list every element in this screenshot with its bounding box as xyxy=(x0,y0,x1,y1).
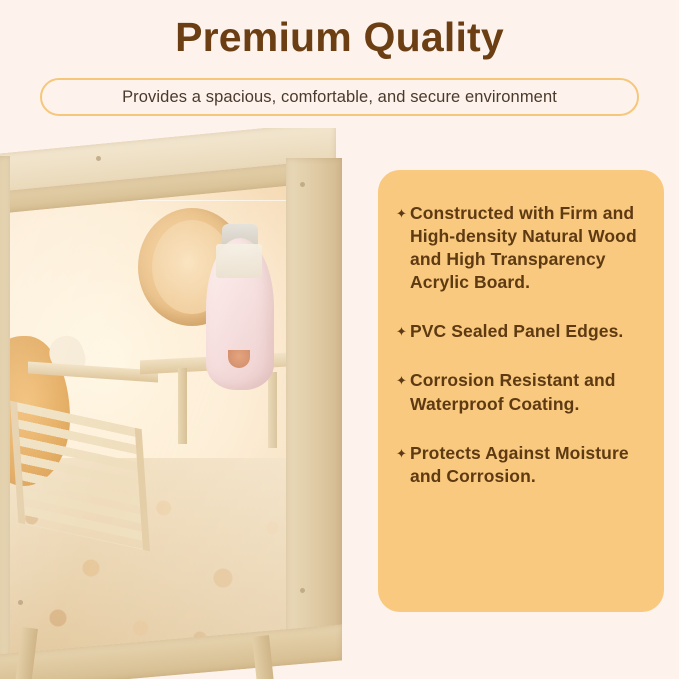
feature-text: Protects Against Moisture and Corrosion. xyxy=(410,442,644,488)
list-item: ✦ PVC Sealed Panel Edges. xyxy=(396,320,644,343)
screw-dot xyxy=(300,182,305,187)
feature-list: ✦ Constructed with Firm and High-density… xyxy=(396,202,644,488)
feature-card: ✦ Constructed with Firm and High-density… xyxy=(378,170,664,612)
acrylic-front-panel xyxy=(8,200,288,657)
subtitle-pill: Provides a spacious, comfortable, and se… xyxy=(40,78,639,116)
feature-text: Constructed with Firm and High-density N… xyxy=(410,202,644,294)
product-photo xyxy=(0,128,360,679)
screw-dot xyxy=(18,600,23,605)
list-item: ✦ Corrosion Resistant and Waterproof Coa… xyxy=(396,369,644,415)
subtitle-text: Provides a spacious, comfortable, and se… xyxy=(122,88,557,107)
bullet-icon: ✦ xyxy=(396,207,410,220)
list-item: ✦ Constructed with Firm and High-density… xyxy=(396,202,644,294)
cage-left-post xyxy=(0,156,10,661)
feature-text: PVC Sealed Panel Edges. xyxy=(410,320,623,343)
product-feature-page: Premium Quality Provides a spacious, com… xyxy=(0,0,679,679)
bullet-icon: ✦ xyxy=(396,374,410,387)
cage-right-panel xyxy=(286,158,342,658)
bullet-icon: ✦ xyxy=(396,325,410,338)
screw-dot xyxy=(300,588,305,593)
screw-dot xyxy=(96,156,101,161)
feature-text: Corrosion Resistant and Waterproof Coati… xyxy=(410,369,644,415)
page-title: Premium Quality xyxy=(0,14,679,61)
bullet-icon: ✦ xyxy=(396,447,410,460)
list-item: ✦ Protects Against Moisture and Corrosio… xyxy=(396,442,644,488)
